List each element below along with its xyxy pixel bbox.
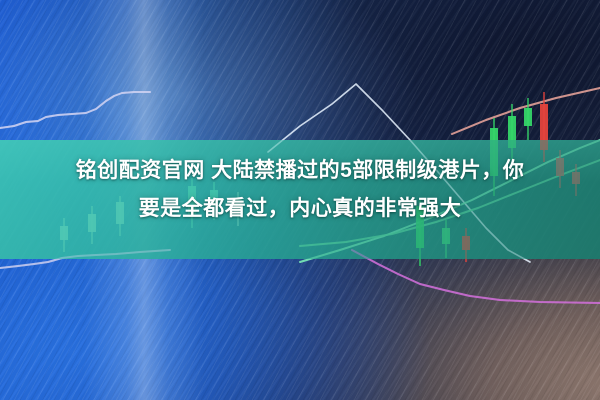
candlestick-body [462, 236, 470, 250]
candlestick-body [524, 108, 532, 126]
promo-banner-image: 铭创配资官网 大陆禁播过的5部限制级港片，你 要是全都看过，内心真的非常强大 [0, 0, 600, 400]
headline-text: 铭创配资官网 大陆禁播过的5部限制级港片，你 要是全都看过，内心真的非常强大 [0, 152, 600, 228]
chart-series-lavender-lower-line [0, 250, 170, 268]
candlestick-body [508, 116, 516, 148]
candlestick-body [540, 104, 548, 150]
candlestick-body [60, 226, 68, 240]
candlestick [462, 228, 470, 262]
candlestick-body [442, 228, 450, 244]
headline-line-1: 铭创配资官网 大陆禁播过的5部限制级港片，你 [0, 152, 600, 190]
chart-series-lavender-trend-line [0, 92, 150, 128]
headline-line-2: 要是全都看过，内心真的非常强大 [0, 190, 600, 228]
chart-series-magenta-decline-line [352, 250, 600, 303]
